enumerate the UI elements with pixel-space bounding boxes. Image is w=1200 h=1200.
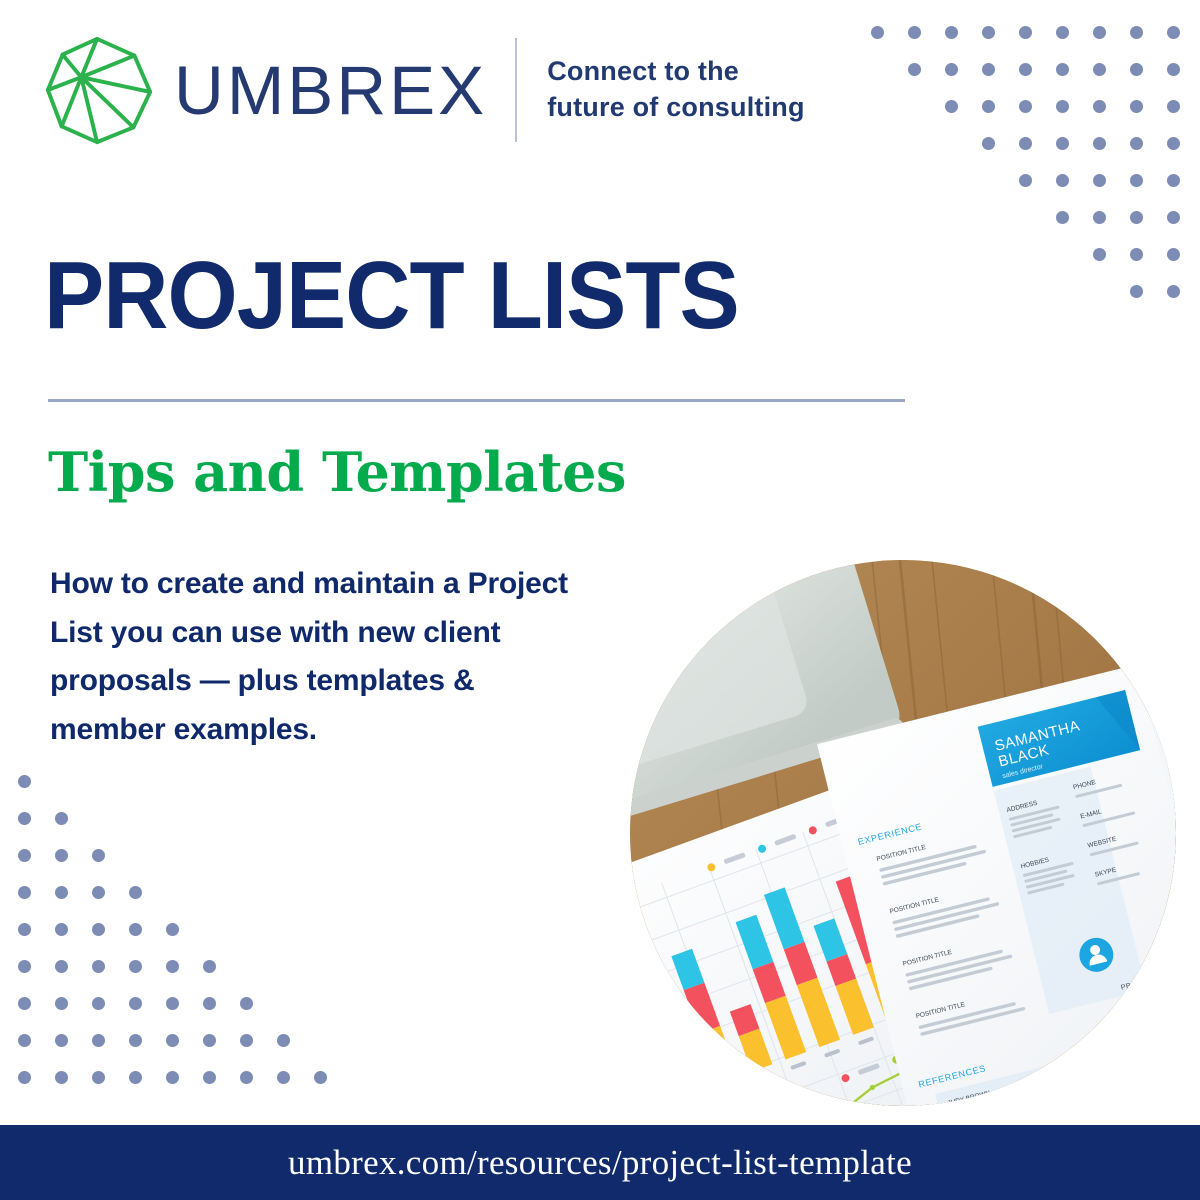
dot-row bbox=[18, 1059, 348, 1096]
decorative-dot bbox=[203, 1071, 216, 1084]
decorative-dot bbox=[1093, 137, 1106, 150]
decorative-dot bbox=[982, 63, 995, 76]
page-title: PROJECT LISTS bbox=[44, 248, 739, 344]
decorative-dot bbox=[1019, 174, 1032, 187]
footer-url-text[interactable]: umbrex.com/resources/project-list-templa… bbox=[288, 1143, 912, 1183]
decorative-dot bbox=[18, 923, 31, 936]
decorative-dot bbox=[1130, 100, 1143, 113]
decorative-dot bbox=[1056, 26, 1069, 39]
decorative-dot bbox=[1130, 26, 1143, 39]
decorative-dot bbox=[55, 812, 68, 825]
logo-divider bbox=[515, 38, 517, 142]
dot-row bbox=[860, 162, 1180, 199]
decorative-dot-grid-top-right bbox=[860, 14, 1180, 310]
umbrex-wordmark: UMBREX bbox=[174, 56, 487, 125]
dot-row bbox=[18, 800, 348, 837]
footer-url-bar: umbrex.com/resources/project-list-templa… bbox=[0, 1125, 1200, 1200]
decorative-dot bbox=[55, 997, 68, 1010]
decorative-dot bbox=[240, 1034, 253, 1047]
dot-row bbox=[18, 948, 348, 985]
decorative-dot bbox=[1130, 174, 1143, 187]
dot-row bbox=[18, 985, 348, 1022]
hero-photo-circle: SAMANTHA BLACK sales director EXPERIENCE… bbox=[630, 560, 1176, 1106]
decorative-dot bbox=[92, 923, 105, 936]
decorative-dot bbox=[1093, 211, 1106, 224]
decorative-dot bbox=[1167, 174, 1180, 187]
decorative-dot bbox=[166, 960, 179, 973]
decorative-dot bbox=[982, 26, 995, 39]
decorative-dot bbox=[1130, 137, 1143, 150]
decorative-dot bbox=[18, 1071, 31, 1084]
decorative-dot bbox=[240, 997, 253, 1010]
decorative-dot bbox=[982, 137, 995, 150]
dot-row bbox=[860, 236, 1180, 273]
tagline-line-2: future of consulting bbox=[547, 90, 804, 126]
decorative-dot bbox=[92, 1034, 105, 1047]
decorative-dot bbox=[871, 26, 884, 39]
decorative-dot bbox=[203, 997, 216, 1010]
decorative-dot bbox=[1056, 211, 1069, 224]
decorative-dot bbox=[1019, 100, 1032, 113]
decorative-dot bbox=[1167, 211, 1180, 224]
decorative-dot bbox=[92, 849, 105, 862]
dot-row bbox=[18, 837, 348, 874]
umbrex-logo-icon bbox=[40, 31, 158, 149]
decorative-dot bbox=[55, 1071, 68, 1084]
decorative-dot bbox=[18, 849, 31, 862]
dot-row bbox=[860, 88, 1180, 125]
decorative-dot bbox=[1093, 26, 1106, 39]
dot-row bbox=[860, 199, 1180, 236]
decorative-dot bbox=[166, 1071, 179, 1084]
decorative-dot bbox=[1167, 248, 1180, 261]
decorative-dot bbox=[18, 997, 31, 1010]
dot-row bbox=[860, 14, 1180, 51]
decorative-dot-grid-bottom-left bbox=[18, 763, 348, 1096]
decorative-dot bbox=[55, 886, 68, 899]
decorative-dot bbox=[1167, 137, 1180, 150]
decorative-dot bbox=[18, 775, 31, 788]
decorative-dot bbox=[1056, 137, 1069, 150]
decorative-dot bbox=[1019, 63, 1032, 76]
dot-row bbox=[860, 273, 1180, 310]
decorative-dot bbox=[166, 997, 179, 1010]
decorative-dot bbox=[1130, 248, 1143, 261]
decorative-dot bbox=[1130, 211, 1143, 224]
decorative-dot bbox=[982, 100, 995, 113]
decorative-dot bbox=[55, 849, 68, 862]
brand-tagline: Connect to the future of consulting bbox=[547, 54, 804, 125]
decorative-dot bbox=[129, 1071, 142, 1084]
dot-row bbox=[18, 911, 348, 948]
decorative-dot bbox=[18, 886, 31, 899]
decorative-dot bbox=[1130, 285, 1143, 298]
decorative-dot bbox=[1056, 174, 1069, 187]
decorative-dot bbox=[92, 1071, 105, 1084]
decorative-dot bbox=[55, 923, 68, 936]
dot-row bbox=[18, 1022, 348, 1059]
decorative-dot bbox=[203, 960, 216, 973]
decorative-dot bbox=[1093, 174, 1106, 187]
decorative-dot bbox=[129, 1034, 142, 1047]
decorative-dot bbox=[1019, 137, 1032, 150]
poster-canvas: UMBREX Connect to the future of consulti… bbox=[0, 0, 1200, 1200]
decorative-dot bbox=[314, 1071, 327, 1084]
decorative-dot bbox=[1093, 63, 1106, 76]
decorative-dot bbox=[1167, 100, 1180, 113]
decorative-dot bbox=[18, 812, 31, 825]
decorative-dot bbox=[1056, 100, 1069, 113]
decorative-dot bbox=[1093, 100, 1106, 113]
title-divider-rule bbox=[48, 399, 905, 402]
decorative-dot bbox=[1167, 26, 1180, 39]
decorative-dot bbox=[129, 960, 142, 973]
dot-row bbox=[860, 125, 1180, 162]
decorative-dot bbox=[908, 63, 921, 76]
decorative-dot bbox=[1093, 248, 1106, 261]
decorative-dot bbox=[55, 960, 68, 973]
svg-text:EDUCATION: EDUCATION bbox=[1170, 715, 1176, 739]
decorative-dot bbox=[908, 26, 921, 39]
decorative-dot bbox=[92, 886, 105, 899]
decorative-dot bbox=[129, 923, 142, 936]
decorative-dot bbox=[55, 1034, 68, 1047]
decorative-dot bbox=[92, 960, 105, 973]
decorative-dot bbox=[1130, 63, 1143, 76]
decorative-dot bbox=[203, 1034, 216, 1047]
decorative-dot bbox=[277, 1071, 290, 1084]
decorative-dot bbox=[945, 63, 958, 76]
decorative-dot bbox=[1056, 63, 1069, 76]
dot-row bbox=[18, 763, 348, 800]
decorative-dot bbox=[18, 960, 31, 973]
decorative-dot bbox=[1167, 285, 1180, 298]
page-body-copy: How to create and maintain a Project Lis… bbox=[50, 560, 590, 754]
decorative-dot bbox=[129, 886, 142, 899]
decorative-dot bbox=[1167, 63, 1180, 76]
decorative-dot bbox=[92, 997, 105, 1010]
decorative-dot bbox=[129, 997, 142, 1010]
decorative-dot bbox=[1019, 26, 1032, 39]
decorative-dot bbox=[945, 100, 958, 113]
decorative-dot bbox=[277, 1034, 290, 1047]
dot-row bbox=[18, 874, 348, 911]
decorative-dot bbox=[945, 26, 958, 39]
page-subtitle: Tips and Templates bbox=[48, 444, 626, 501]
decorative-dot bbox=[240, 1071, 253, 1084]
tagline-line-1: Connect to the bbox=[547, 54, 804, 90]
dot-row bbox=[860, 51, 1180, 88]
brand-header: UMBREX Connect to the future of consulti… bbox=[40, 32, 805, 148]
decorative-dot bbox=[18, 1034, 31, 1047]
decorative-dot bbox=[166, 1034, 179, 1047]
decorative-dot bbox=[166, 923, 179, 936]
